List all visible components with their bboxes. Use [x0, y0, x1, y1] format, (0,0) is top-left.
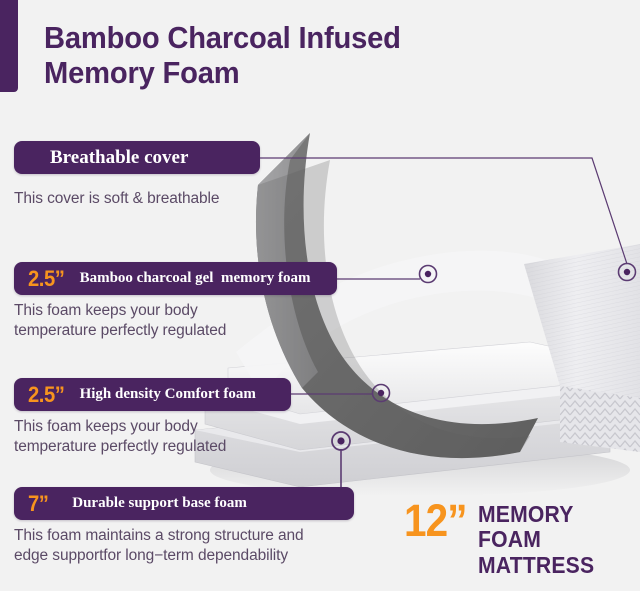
layer-badge-support-base-foam[interactable]: 7” Durable support base foam: [14, 487, 354, 520]
product-name: MEMORY FOAM MATTRESS: [478, 502, 627, 578]
layer-badge-measure: 2.5”: [28, 268, 64, 290]
product-callout: 12” MEMORY FOAM MATTRESS: [404, 500, 640, 578]
marker-base-foam: [332, 432, 350, 450]
cover-side-band: [560, 386, 640, 452]
leader-line-cover: [260, 158, 627, 264]
layer-description-comfort-foam: This foam keeps your body temperature pe…: [14, 417, 314, 457]
memory-foam-edge-face: [256, 133, 318, 388]
cover-top-face: [524, 244, 640, 398]
layer-badge-gel-memory-foam[interactable]: 2.5” Bamboo charcoal gel memory foam: [14, 262, 337, 295]
marker-gel-foam: [420, 266, 437, 283]
mattress-thickness: 12”: [404, 500, 467, 543]
accent-bar: [0, 0, 18, 92]
layer-badge-label: Durable support base foam: [72, 496, 247, 511]
layer-badge-measure: 7”: [28, 493, 48, 515]
cover-top-texture: [524, 244, 640, 398]
layer-badge-label: High density Comfort foam: [80, 387, 256, 402]
layer-badge-comfort-foam[interactable]: 2.5” High density Comfort foam: [14, 378, 291, 411]
cover-side-texture: [560, 386, 640, 452]
page-title: Bamboo Charcoal Infused Memory Foam: [44, 20, 533, 90]
mattress-infographic: Bamboo Charcoal Infused Memory Foam: [0, 0, 640, 591]
layer-badge-measure: 2.5”: [28, 384, 64, 406]
layer-description-support-base-foam: This foam maintains a strong structure a…: [14, 526, 354, 566]
layer-description-cover: This cover is soft & breathable: [14, 189, 314, 209]
layer-badge-label: Bamboo charcoal gel memory foam: [80, 271, 311, 286]
layer-description-gel-memory-foam: This foam keeps your body temperature pe…: [14, 301, 314, 341]
marker-cover: [619, 264, 636, 281]
layer-badge-cover[interactable]: Breathable cover: [14, 141, 260, 174]
marker-comfort-foam: [373, 385, 390, 402]
memory-foam-curved-layer: [256, 133, 538, 458]
layer-badge-label: Breathable cover: [28, 148, 188, 167]
